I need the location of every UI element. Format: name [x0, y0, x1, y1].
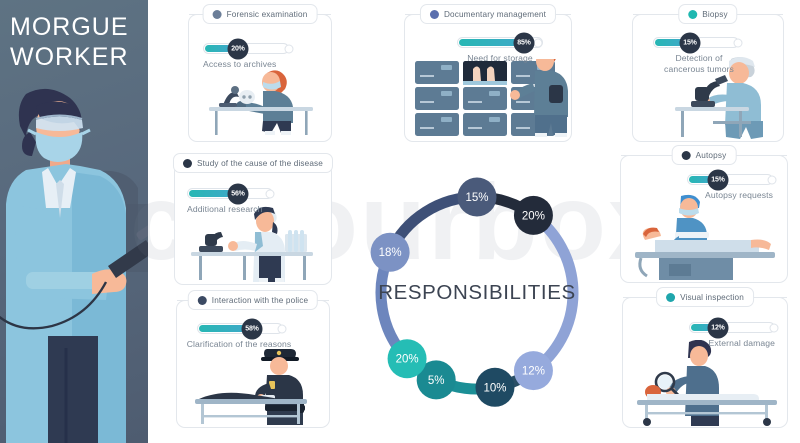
card-title-visual-inspection: Visual inspection	[656, 287, 754, 307]
meter-value-badge: 58%	[242, 318, 263, 339]
scientist-at-microscope-illustration	[205, 63, 321, 137]
node-label-10: 10%	[483, 382, 506, 394]
tab-rule-left	[621, 155, 671, 156]
meter-value-badge: 15%	[680, 32, 701, 53]
police-officer-illustration	[185, 347, 325, 425]
tab-rule-left	[405, 14, 417, 15]
donut-svg: 15% 20% 12% 10% 5% 20% 18%	[352, 168, 602, 418]
donut-arcs: 15% 20% 12% 10% 5% 20% 18%	[371, 178, 573, 407]
meter-value-badge: 56%	[228, 183, 249, 204]
meter-handle[interactable]	[734, 38, 743, 47]
meter-label: External damage	[689, 338, 775, 349]
meter-handle[interactable]	[534, 38, 543, 47]
meter-track[interactable]: 12%	[689, 322, 775, 333]
card-biopsy[interactable]: Biopsy 15% Detection of cancerous tumors	[632, 14, 784, 142]
meter-value-badge: 20%	[228, 38, 249, 59]
responsibilities-donut-chart: 15% 20% 12% 10% 5% 20% 18% RESPONSIBILIT…	[352, 168, 602, 418]
tab-rule-right	[737, 155, 787, 156]
meter-external-damage[interactable]: 12% External damage	[689, 322, 775, 349]
hero-panel: MORGUE WORKER	[0, 0, 148, 443]
card-title-label: Visual inspection	[680, 293, 744, 302]
card-interaction-with-police[interactable]: Interaction with the police 58% Clarific…	[176, 300, 330, 428]
autopsy-table-illustration	[629, 194, 781, 280]
magnifier-inspection-illustration	[631, 340, 783, 426]
meter-handle[interactable]	[770, 323, 779, 332]
card-title-study-cause-of-disease: Study of the cause of the disease	[173, 153, 333, 173]
node-label-18: 18%	[379, 247, 402, 259]
meter-handle[interactable]	[768, 175, 777, 184]
meter-need-for-storage[interactable]: 85% Need for storage	[457, 37, 543, 64]
card-documentary-management[interactable]: Documentary management 85% Need for stor…	[404, 14, 572, 142]
tab-rule-right	[735, 14, 783, 15]
card-title-label: Documentary management	[444, 10, 546, 19]
node-label-20-top: 20%	[522, 210, 545, 222]
node-label-5: 5%	[428, 375, 445, 387]
meter-value-badge: 85%	[514, 32, 535, 53]
card-title-forensic-examination: Forensic examination	[203, 4, 318, 24]
card-title-interaction-with-police: Interaction with the police	[188, 290, 318, 310]
meter-track[interactable]: 85%	[457, 37, 543, 48]
meter-track[interactable]: 20%	[203, 43, 289, 54]
status-dot-icon	[183, 159, 192, 168]
meter-track[interactable]: 15%	[653, 37, 739, 48]
meter-access-to-archives[interactable]: 20% Access to archives	[203, 43, 289, 70]
node-label-20-left: 20%	[396, 354, 419, 366]
card-visual-inspection[interactable]: Visual inspection 12% External damage	[622, 297, 788, 428]
infographic-root: MORGUE WORKER	[0, 0, 800, 443]
tab-rule-left	[633, 14, 681, 15]
status-dot-icon	[666, 293, 675, 302]
card-title-label: Study of the cause of the disease	[197, 159, 323, 168]
card-autopsy[interactable]: Autopsy 15% Autopsy requests	[620, 155, 788, 283]
meter-additional-research[interactable]: 56% Additional research	[187, 188, 273, 215]
arc-segment-2	[533, 215, 573, 370]
meter-handle[interactable]	[266, 189, 275, 198]
status-dot-icon	[430, 10, 439, 19]
meter-value-badge: 12%	[708, 317, 729, 338]
node-label-12: 12%	[522, 366, 545, 378]
tab-rule-right	[559, 14, 571, 15]
tab-rule-right	[761, 297, 787, 298]
meter-autopsy-requests[interactable]: 15% Autopsy requests	[687, 174, 773, 201]
meter-label: Detection of cancerous tumors	[653, 53, 745, 75]
tab-rule-left	[623, 297, 649, 298]
status-dot-icon	[198, 296, 207, 305]
meter-clarification-of-reasons[interactable]: 58% Clarification of the reasons	[197, 323, 295, 350]
card-title-label: Autopsy	[696, 151, 727, 160]
card-study-cause-of-disease[interactable]: Study of the cause of the disease 56% Ad…	[174, 163, 332, 285]
meter-label: Access to archives	[203, 59, 289, 70]
status-dot-icon	[688, 10, 697, 19]
meter-value-badge: 15%	[708, 169, 729, 190]
meter-track[interactable]: 15%	[687, 174, 773, 185]
storage-lockers-illustration	[411, 59, 569, 139]
lab-research-illustration	[185, 206, 327, 282]
card-title-label: Interaction with the police	[212, 296, 308, 305]
status-dot-icon	[682, 151, 691, 160]
node-label-15: 15%	[465, 192, 488, 204]
meter-label: Additional research	[187, 204, 273, 215]
card-title-label: Forensic examination	[227, 10, 308, 19]
meter-label: Autopsy requests	[687, 190, 773, 201]
card-title-documentary-management: Documentary management	[420, 4, 556, 24]
page-title: MORGUE WORKER	[0, 0, 148, 72]
status-dot-icon	[213, 10, 222, 19]
meter-detection-of-cancerous-tumors[interactable]: 15% Detection of cancerous tumors	[653, 37, 745, 75]
meter-label: Clarification of the reasons	[183, 339, 295, 350]
card-title-biopsy: Biopsy	[678, 4, 737, 24]
card-forensic-examination[interactable]: Forensic examination 20% Access to archi…	[188, 14, 332, 142]
meter-track[interactable]: 58%	[197, 323, 283, 334]
meter-track[interactable]: 56%	[187, 188, 273, 199]
morgue-worker-illustration	[0, 86, 148, 443]
card-title-label: Biopsy	[702, 10, 727, 19]
card-title-autopsy: Autopsy	[672, 145, 737, 165]
meter-handle[interactable]	[278, 324, 287, 333]
meter-handle[interactable]	[285, 44, 294, 53]
meter-label: Need for storage	[457, 53, 543, 64]
